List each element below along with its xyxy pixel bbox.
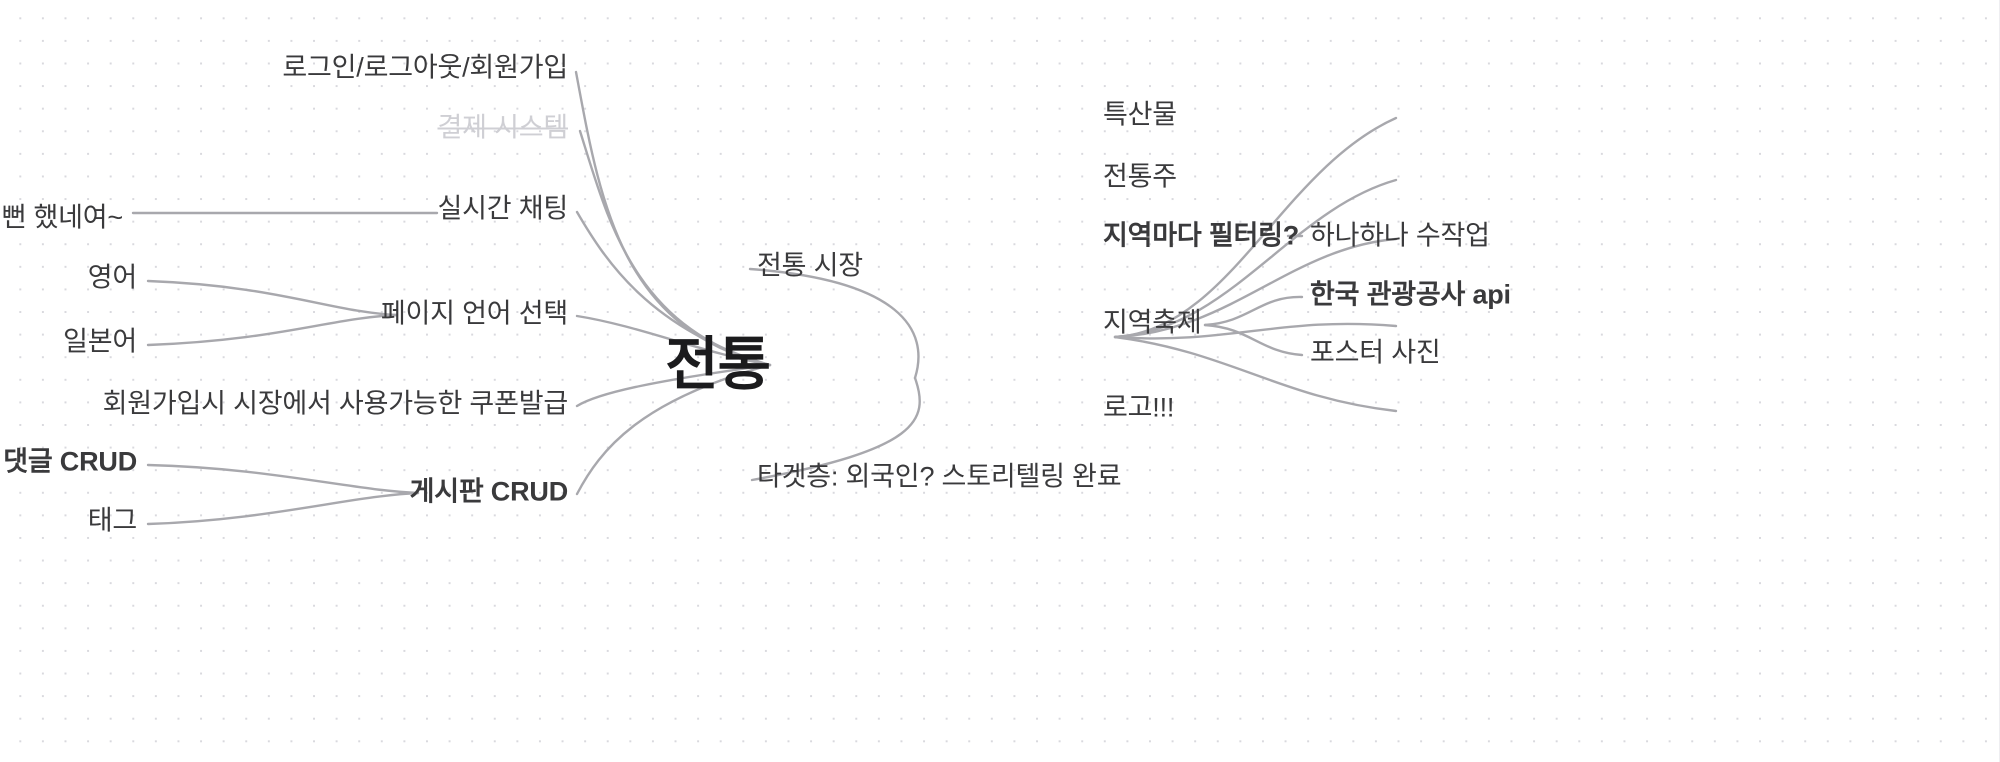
mindmap-node-chat[interactable]: 실시간 채팅: [437, 196, 568, 223]
mindmap-node-coupon[interactable]: 회원가입시 시장에서 사용가능한 쿠폰발급: [103, 391, 568, 418]
mindmap-node-lang-select[interactable]: 페이지 언어 선택: [381, 301, 568, 328]
mindmap-node-english[interactable]: 영어: [88, 265, 137, 292]
mindmap-edge: [148, 465, 418, 493]
mindmap-node-poster[interactable]: 포스터 사진: [1310, 340, 1441, 367]
mindmap-node-target[interactable]: 타겟층: 외국인? 스토리텔링 완료: [757, 464, 1121, 491]
mindmap-edge: [1205, 325, 1302, 355]
mindmap-node-tour-api[interactable]: 한국 관광공사 api: [1310, 282, 1511, 309]
mindmap-edge-layer: [0, 0, 2000, 762]
mindmap-node-logo[interactable]: 로고!!!: [1103, 395, 1174, 422]
mindmap-edge: [1205, 297, 1302, 325]
mindmap-node-almost[interactable]: 할 뻔 했네여~: [0, 205, 123, 232]
mindmap-node-liquor[interactable]: 전통주: [1103, 164, 1177, 191]
mindmap-edge: [580, 131, 770, 365]
mindmap-root-node[interactable]: 전통: [665, 336, 770, 394]
mindmap-edge: [576, 72, 770, 365]
mindmap-node-filter[interactable]: 지역마다 필터링?: [1103, 223, 1299, 250]
mindmap-node-market[interactable]: 전통 시장: [757, 253, 863, 280]
mindmap-node-comment-crud[interactable]: 댓글 CRUD: [3, 449, 137, 476]
mindmap-node-japanese[interactable]: 일본어: [63, 329, 137, 356]
mindmap-edge: [148, 315, 397, 345]
mindmap-node-festival[interactable]: 지역축제: [1103, 310, 1202, 337]
mindmap-node-tag[interactable]: 태그: [88, 508, 137, 535]
mindmap-edge: [750, 269, 918, 378]
mindmap-edge: [148, 281, 397, 315]
mindmap-canvas[interactable]: 전통로그인/로그아웃/회원가입결제 시스템실시간 채팅할 뻔 했네여~페이지 언…: [0, 0, 2000, 762]
mindmap-node-board-crud[interactable]: 게시판 CRUD: [410, 479, 568, 506]
mindmap-node-login[interactable]: 로그인/로그아웃/회원가입: [282, 55, 568, 82]
mindmap-node-specialty[interactable]: 특산물: [1103, 102, 1177, 129]
mindmap-edge: [148, 493, 418, 524]
mindmap-node-payment[interactable]: 결제 시스템: [437, 115, 568, 142]
mindmap-node-manual[interactable]: 하나하나 수작업: [1310, 223, 1490, 250]
